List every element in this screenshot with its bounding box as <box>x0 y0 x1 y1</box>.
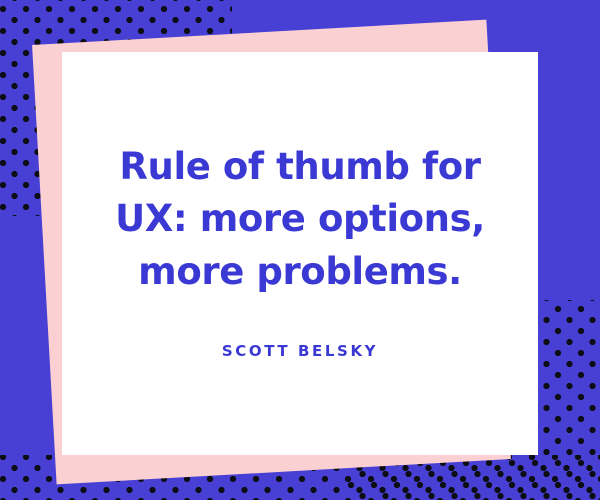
quote-graphic: Rule of thumb for UX: more options, more… <box>0 0 600 500</box>
quote-text: Rule of thumb for UX: more options, more… <box>96 141 504 299</box>
quote-attribution: SCOTT BELSKY <box>222 342 378 360</box>
quote-card: Rule of thumb for UX: more options, more… <box>62 52 538 455</box>
